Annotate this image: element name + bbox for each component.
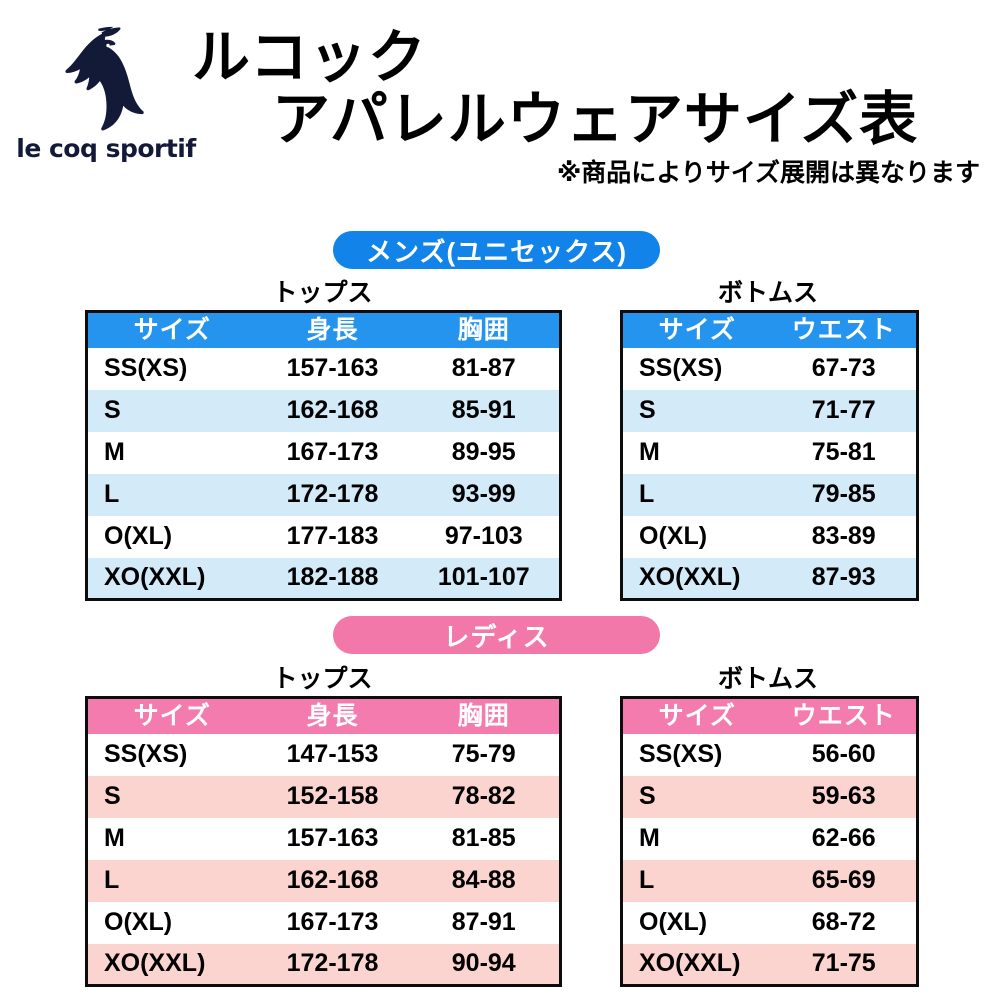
cell-waist: 68-72 [772, 902, 918, 944]
label-ladies-tops: トップス [85, 667, 560, 692]
table-row: M 62-66 [622, 818, 918, 860]
cell-waist: 87-93 [772, 558, 918, 600]
table-header-row: サイズ 身長 胸囲 [87, 312, 561, 348]
brand-logo: le coq sportif [22, 26, 190, 176]
cell-chest: 90-94 [409, 944, 561, 986]
cell-chest: 85-91 [409, 390, 561, 432]
table-mens-tops: サイズ 身長 胸囲 SS(XS) 157-163 81-87 S 162-168… [85, 310, 562, 601]
col-header-chest: 胸囲 [409, 698, 561, 734]
col-header-waist: ウエスト [772, 312, 918, 348]
col-header-size: サイズ [87, 698, 257, 734]
cell-size: XO(XXL) [622, 944, 772, 986]
cell-height: 162-168 [257, 390, 409, 432]
cell-size: SS(XS) [622, 734, 772, 776]
table-row: L 172-178 93-99 [87, 474, 561, 516]
cell-size: XO(XXL) [87, 944, 257, 986]
table-row: L 162-168 84-88 [87, 860, 561, 902]
table-row: XO(XXL) 87-93 [622, 558, 918, 600]
cell-size: M [622, 818, 772, 860]
label-ladies-bottoms: ボトムス [620, 667, 916, 692]
size-chart-page: le coq sportif ルコック アパレルウェアサイズ表 ※商品によりサイ… [0, 0, 1000, 1000]
cell-chest: 97-103 [409, 516, 561, 558]
col-header-size: サイズ [622, 698, 772, 734]
cell-size: M [87, 818, 257, 860]
cell-waist: 75-81 [772, 432, 918, 474]
cell-chest: 81-85 [409, 818, 561, 860]
table-row: O(XL) 177-183 97-103 [87, 516, 561, 558]
cell-size: L [622, 474, 772, 516]
table-row: XO(XXL) 71-75 [622, 944, 918, 986]
table-row: M 75-81 [622, 432, 918, 474]
rooster-logo-icon [46, 26, 166, 134]
cell-height: 157-163 [257, 348, 409, 390]
table-row: L 79-85 [622, 474, 918, 516]
table-row: SS(XS) 147-153 75-79 [87, 734, 561, 776]
cell-size: O(XL) [622, 516, 772, 558]
cell-size: O(XL) [622, 902, 772, 944]
table-row: SS(XS) 56-60 [622, 734, 918, 776]
table-row: XO(XXL) 172-178 90-94 [87, 944, 561, 986]
cell-size: XO(XXL) [87, 558, 257, 600]
size-variation-note: ※商品によりサイズ展開は異なります [557, 160, 980, 188]
table-row: O(XL) 167-173 87-91 [87, 902, 561, 944]
table-row: M 157-163 81-85 [87, 818, 561, 860]
cell-chest: 87-91 [409, 902, 561, 944]
col-header-chest: 胸囲 [409, 312, 561, 348]
cell-height: 177-183 [257, 516, 409, 558]
table-header-row: サイズ ウエスト [622, 698, 918, 734]
cell-size: SS(XS) [622, 348, 772, 390]
cell-size: S [622, 390, 772, 432]
table-row: S 59-63 [622, 776, 918, 818]
cell-chest: 78-82 [409, 776, 561, 818]
table-header-row: サイズ ウエスト [622, 312, 918, 348]
cell-size: S [622, 776, 772, 818]
cell-size: XO(XXL) [622, 558, 772, 600]
table-row: S 162-168 85-91 [87, 390, 561, 432]
cell-height: 157-163 [257, 818, 409, 860]
label-mens-tops: トップス [85, 281, 560, 306]
cell-height: 182-188 [257, 558, 409, 600]
cell-size: M [87, 432, 257, 474]
section-badge-ladies: レディス [333, 616, 660, 654]
cell-size: L [87, 860, 257, 902]
table-row: S 71-77 [622, 390, 918, 432]
col-header-height: 身長 [257, 698, 409, 734]
table-row: S 152-158 78-82 [87, 776, 561, 818]
col-header-size: サイズ [87, 312, 257, 348]
cell-waist: 83-89 [772, 516, 918, 558]
table-header-row: サイズ 身長 胸囲 [87, 698, 561, 734]
cell-height: 162-168 [257, 860, 409, 902]
cell-chest: 84-88 [409, 860, 561, 902]
page-title-line1: ルコック [192, 26, 427, 91]
table-row: SS(XS) 67-73 [622, 348, 918, 390]
cell-size: L [87, 474, 257, 516]
cell-waist: 71-77 [772, 390, 918, 432]
cell-chest: 93-99 [409, 474, 561, 516]
cell-size: SS(XS) [87, 734, 257, 776]
table-row: XO(XXL) 182-188 101-107 [87, 558, 561, 600]
cell-size: S [87, 776, 257, 818]
cell-waist: 67-73 [772, 348, 918, 390]
cell-height: 167-173 [257, 902, 409, 944]
cell-waist: 59-63 [772, 776, 918, 818]
cell-chest: 81-87 [409, 348, 561, 390]
cell-size: SS(XS) [87, 348, 257, 390]
cell-waist: 71-75 [772, 944, 918, 986]
cell-size: L [622, 860, 772, 902]
table-row: L 65-69 [622, 860, 918, 902]
table-mens-bottoms: サイズ ウエスト SS(XS) 67-73 S 71-77 M 75-81 L … [620, 310, 919, 601]
table-ladies-bottoms: サイズ ウエスト SS(XS) 56-60 S 59-63 M 62-66 L … [620, 696, 919, 987]
cell-size: O(XL) [87, 516, 257, 558]
table-row: SS(XS) 157-163 81-87 [87, 348, 561, 390]
cell-chest: 75-79 [409, 734, 561, 776]
page-title-line2: アパレルウェアサイズ表 [272, 88, 918, 153]
table-row: O(XL) 68-72 [622, 902, 918, 944]
col-header-size: サイズ [622, 312, 772, 348]
cell-height: 167-173 [257, 432, 409, 474]
cell-size: M [622, 432, 772, 474]
section-badge-mens: メンズ(ユニセックス) [333, 231, 660, 269]
cell-chest: 101-107 [409, 558, 561, 600]
col-header-waist: ウエスト [772, 698, 918, 734]
cell-height: 172-178 [257, 944, 409, 986]
label-mens-bottoms: ボトムス [620, 281, 916, 306]
cell-waist: 65-69 [772, 860, 918, 902]
cell-height: 152-158 [257, 776, 409, 818]
table-ladies-tops: サイズ 身長 胸囲 SS(XS) 147-153 75-79 S 152-158… [85, 696, 562, 987]
cell-waist: 56-60 [772, 734, 918, 776]
col-header-height: 身長 [257, 312, 409, 348]
cell-waist: 62-66 [772, 818, 918, 860]
table-row: M 167-173 89-95 [87, 432, 561, 474]
cell-waist: 79-85 [772, 474, 918, 516]
cell-size: O(XL) [87, 902, 257, 944]
cell-chest: 89-95 [409, 432, 561, 474]
page-header: le coq sportif ルコック アパレルウェアサイズ表 ※商品によりサイ… [0, 0, 1000, 212]
cell-height: 172-178 [257, 474, 409, 516]
cell-height: 147-153 [257, 734, 409, 776]
cell-size: S [87, 390, 257, 432]
table-row: O(XL) 83-89 [622, 516, 918, 558]
logo-wordmark: le coq sportif [16, 136, 196, 161]
